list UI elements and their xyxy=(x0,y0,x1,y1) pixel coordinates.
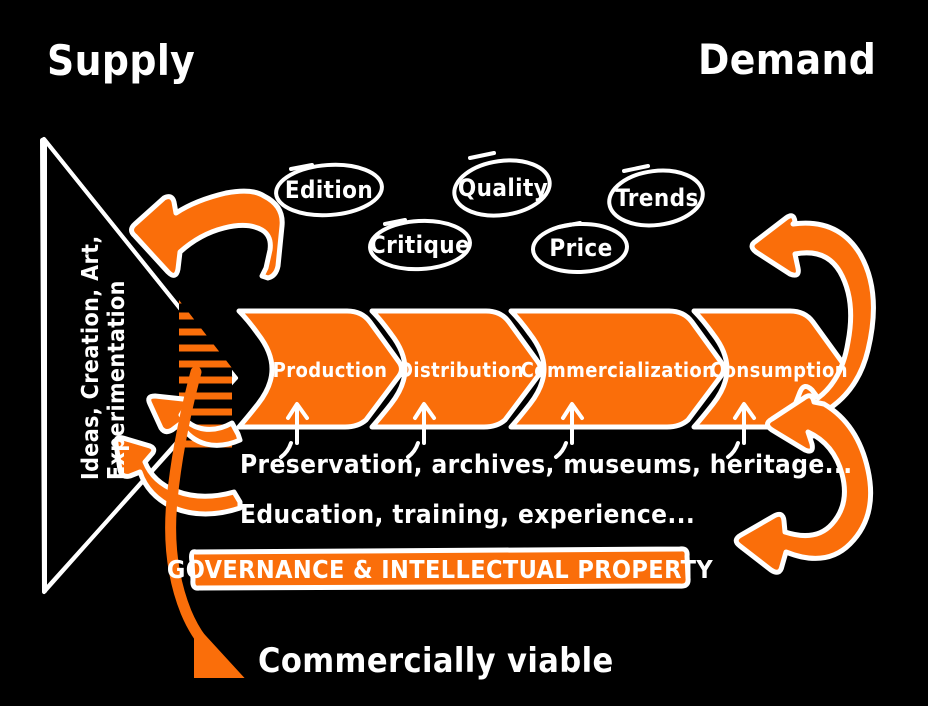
funnel-label-line1: Ideas, Creation, Art, xyxy=(78,235,104,480)
bubble-label-trends[interactable]: Trends xyxy=(615,184,698,212)
diagram-canvas: Supply Demand Ideas, Creation, Art, Expe… xyxy=(0,0,928,706)
support-line-education: Education, training, experience... xyxy=(240,500,695,530)
bubble-label-quality[interactable]: Quality xyxy=(458,174,548,202)
governance-bar-label[interactable]: GOVERNANCE & INTELLECTUAL PROPERTY xyxy=(167,555,714,584)
bubble-label-price[interactable]: Price xyxy=(549,234,612,262)
funnel-label-line2: Experimentation xyxy=(104,280,130,480)
diagram-illustration: Supply Demand Ideas, Creation, Art, Expe… xyxy=(0,0,928,706)
chevron-label-production[interactable]: Production xyxy=(273,358,388,382)
bubble-label-edition[interactable]: Edition xyxy=(285,176,373,204)
outcome-label: Commercially viable xyxy=(258,641,614,681)
curved-arrow-left-icon-top xyxy=(132,191,283,278)
bubble-label-critique[interactable]: Critique xyxy=(370,231,470,259)
support-line-preservation: Preservation, archives, museums, heritag… xyxy=(240,450,853,480)
chevron-label-consumption[interactable]: Consumption xyxy=(710,358,848,382)
page-title-demand: Demand xyxy=(698,35,876,84)
bubble-outlines xyxy=(274,153,706,274)
page-title-supply: Supply xyxy=(47,36,195,85)
chevron-label-commercialization[interactable]: Commercialization xyxy=(521,358,716,382)
chevron-label-distribution[interactable]: Distribution xyxy=(398,358,524,382)
